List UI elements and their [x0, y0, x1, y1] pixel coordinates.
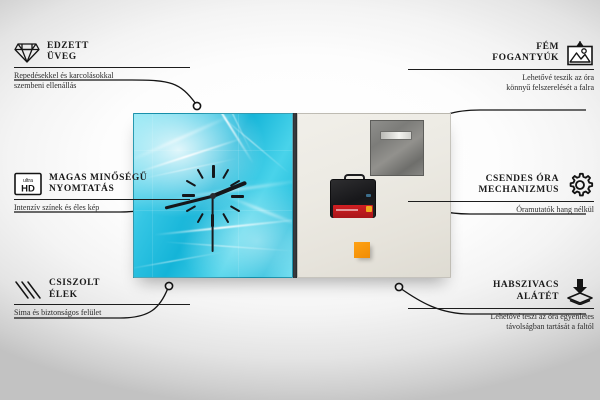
diamond-icon — [14, 40, 40, 64]
callout-description: Intenzív színek és éles kép — [14, 203, 190, 213]
callout-description: Lehetővé teszi az óra egyenletes távolsá… — [408, 312, 594, 332]
ultra-hd-icon-bottom: HD — [21, 184, 35, 195]
mechanism-marking — [366, 194, 371, 197]
mechanism-plus-marker — [366, 206, 372, 212]
callout-title: EDZETT ÜVEG — [47, 41, 89, 64]
callout-description: Sima és biztonságos felület — [14, 308, 190, 318]
callout-title: CSISZOLT ÉLEK — [49, 278, 100, 301]
callout-description: Lehetővé teszik az óra könnyű felszerelé… — [408, 73, 594, 93]
mechanism-body — [330, 179, 376, 218]
callout-title: HABSZIVACS ALÁTÉT — [493, 280, 559, 303]
callout-rule — [408, 201, 594, 202]
clock-mechanism-box — [330, 174, 374, 216]
clock-center-cap — [210, 193, 216, 199]
callout-title: FÉM FOGANTYÚK — [492, 42, 559, 65]
callout-metal-handles: FÉM FOGANTYÚK Lehetővé teszik az óra kön… — [408, 40, 594, 93]
leader-dot-tempered-glass — [193, 102, 200, 109]
metal-hanger-plate — [370, 120, 424, 176]
callout-polished-edges: CSISZOLT ÉLEK Sima és biztonságos felüle… — [14, 278, 190, 318]
gear-icon — [566, 172, 594, 198]
infographic-canvas: EDZETT ÜVEG Repedésekkel és karcolásokka… — [0, 0, 600, 400]
picture-hanger-icon — [566, 40, 594, 66]
callout-title: MAGAS MINŐSÉGŰ NYOMTATÁS — [49, 173, 147, 196]
callout-tempered-glass: EDZETT ÜVEG Repedésekkel és karcolásokka… — [14, 40, 190, 91]
hanger-slot — [380, 131, 412, 140]
callout-title: CSENDES ÓRA MECHANIZMUS — [479, 174, 559, 197]
callout-silent-mechanism: CSENDES ÓRA MECHANIZMUS Óramutatók hang … — [408, 172, 594, 215]
leader-dot-foam-pad — [395, 283, 402, 290]
clock-second-hand — [212, 196, 214, 252]
callout-foam-pad: HABSZIVACS ALÁTÉT Lehetővé teszi az óra … — [408, 278, 594, 332]
foam-pad-icon — [566, 278, 594, 305]
orange-foam-pad — [354, 242, 370, 258]
callout-rule — [14, 67, 190, 68]
callout-rule — [14, 304, 190, 305]
callout-rule — [14, 199, 190, 200]
polished-edges-icon — [14, 279, 42, 301]
callout-rule — [408, 69, 594, 70]
callout-description: Repedésekkel és karcolásokkal szembeni e… — [14, 71, 190, 91]
callout-description: Óramutatók hang nélkül — [408, 205, 594, 215]
ultra-hd-icon: ultra HD — [14, 172, 42, 196]
callout-high-quality-print: ultra HD MAGAS MINŐSÉGŰ NYOMTATÁS Intenz… — [14, 172, 190, 213]
callout-rule — [408, 308, 594, 309]
